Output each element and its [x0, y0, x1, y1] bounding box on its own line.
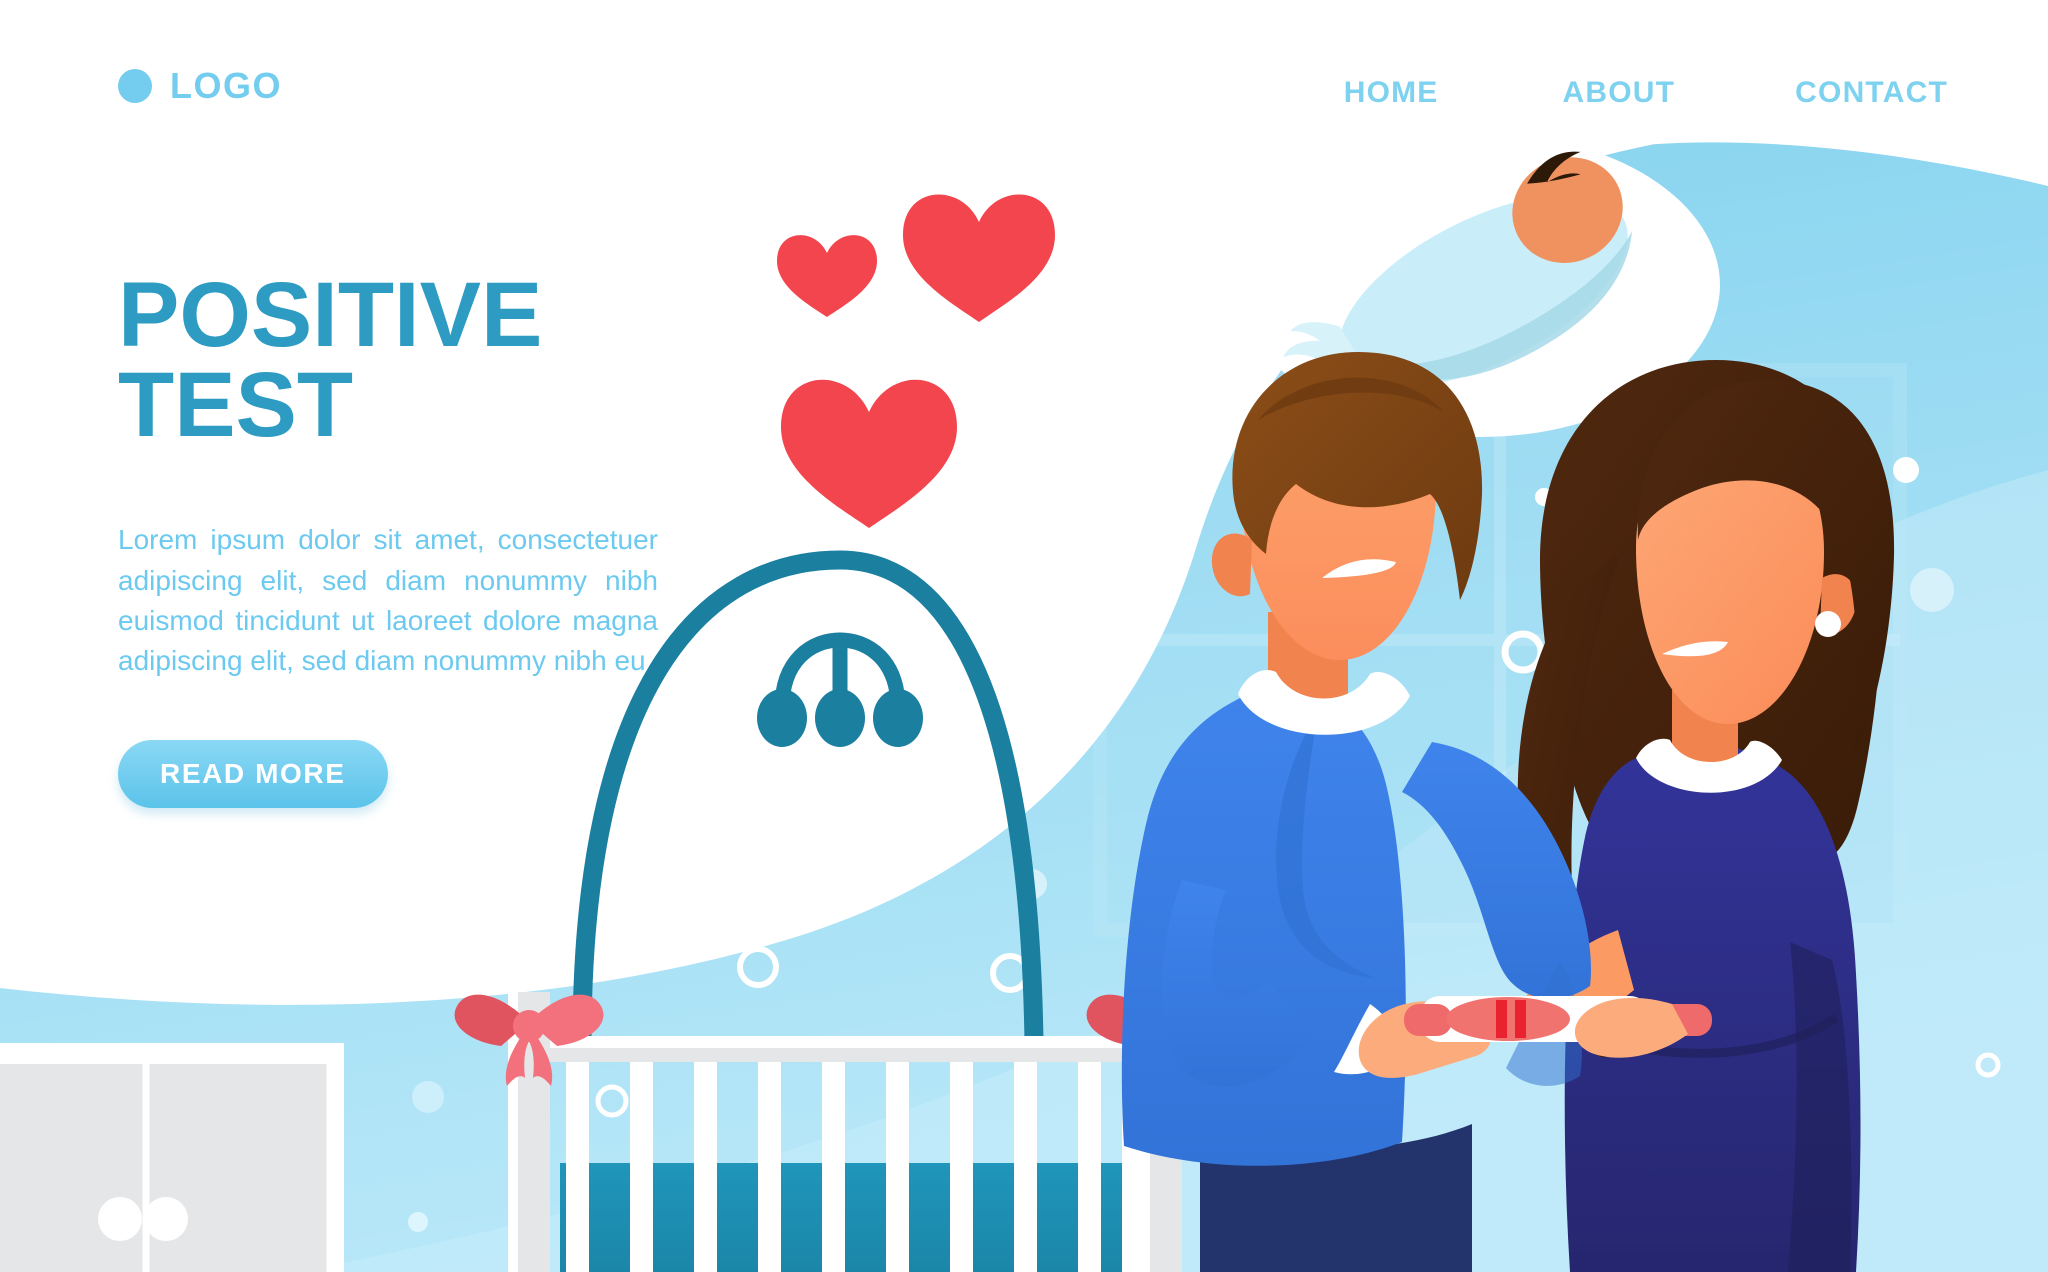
page-title: POSITIVE TEST [118, 270, 678, 450]
hero-paragraph: Lorem ipsum dolor sit amet, consectetuer… [118, 520, 658, 681]
circle-icon [118, 69, 152, 103]
headline-line-2: TEST [118, 360, 678, 450]
site-header: LOGO HOME ABOUT CONTACT [0, 0, 2048, 150]
headline-line-1: POSITIVE [118, 264, 542, 366]
nav-item-about[interactable]: ABOUT [1563, 72, 1676, 114]
main-nav: HOME ABOUT CONTACT [1344, 72, 1948, 114]
cabinet-knob-left [98, 1197, 142, 1241]
read-more-button[interactable]: READ MORE [118, 740, 388, 808]
logo[interactable]: LOGO [118, 68, 282, 104]
crib-mobile-balls [757, 689, 923, 747]
nursery-cabinet [0, 1043, 344, 1272]
test-line-2 [1515, 1000, 1526, 1038]
logo-label: LOGO [170, 68, 282, 104]
test-window [1446, 997, 1570, 1041]
test-cap [1404, 1004, 1452, 1036]
hero-copy: POSITIVE TEST Lorem ipsum dolor sit amet… [118, 270, 678, 808]
test-line-1 [1496, 1000, 1507, 1038]
cabinet-knob-right [144, 1197, 188, 1241]
nav-item-contact[interactable]: CONTACT [1795, 72, 1948, 114]
page-root: LOGO HOME ABOUT CONTACT POSITIVE TEST Lo… [0, 0, 2048, 1272]
earring [1815, 611, 1841, 637]
nav-item-home[interactable]: HOME [1344, 72, 1439, 114]
